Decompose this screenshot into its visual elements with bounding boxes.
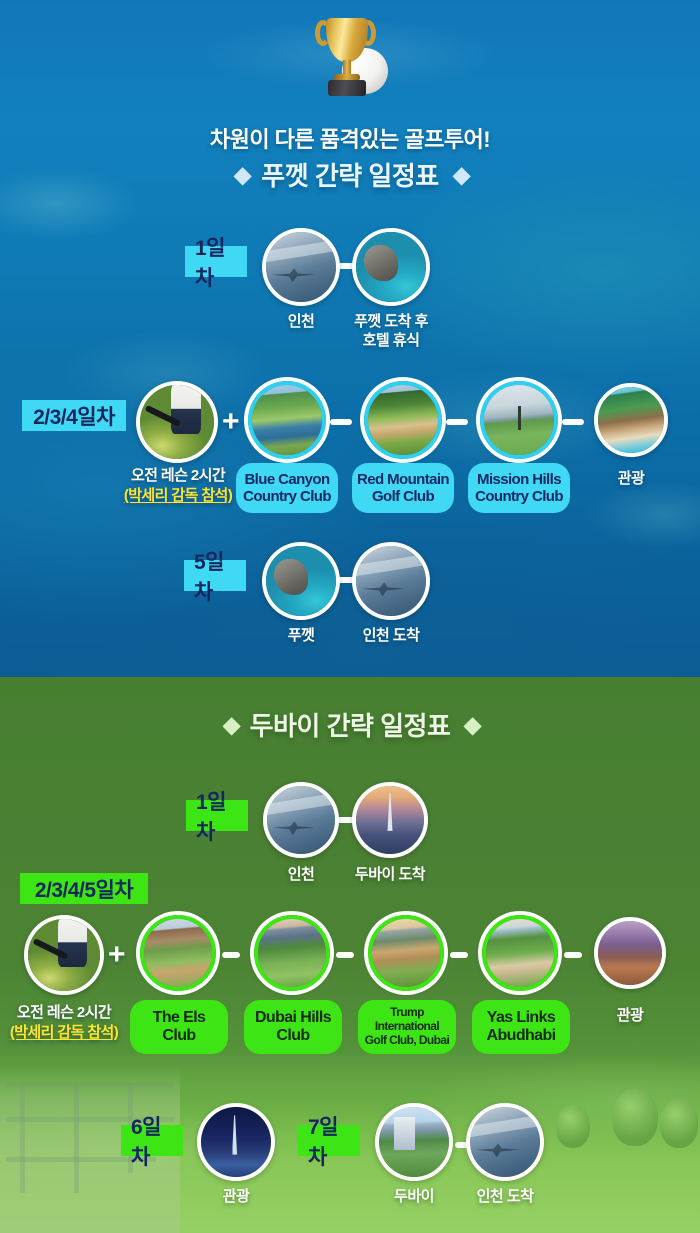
dubai-hills-course-photo	[258, 919, 326, 987]
phuket-club-node-0[interactable]	[248, 381, 326, 459]
phuket-day5-label-incheon: 인천 도착	[341, 627, 441, 646]
incheon-airport-photo-4	[470, 1107, 540, 1177]
dubai-lesson-line1: 오전 레슨 2시간	[17, 1004, 111, 1021]
tree-decor-2	[660, 1098, 698, 1148]
tagline: 차원이 다른 품격있는 골프투어!	[0, 122, 700, 154]
dubai-plus-icon: +	[108, 940, 126, 970]
dubai-club-1-line2: Club	[276, 1027, 309, 1044]
dubai-club-2-line2: International	[375, 1019, 439, 1033]
phuket-plus-icon: +	[222, 407, 240, 437]
dubai-club-pill-2[interactable]: TrumpInternationalGolf Club, Dubai	[358, 1000, 456, 1054]
phuket-day5-label-phuket: 푸껫	[251, 627, 351, 646]
dubai-city-photo	[598, 921, 662, 985]
dubai-club-node-1[interactable]	[254, 915, 330, 991]
phuket-club-1-line2: Golf Club	[372, 488, 434, 505]
dubai-title-text: 두바이 간략 일정표	[250, 711, 451, 741]
connector-p2-b	[446, 419, 468, 425]
phuket-island-photo	[356, 232, 426, 302]
tree-decor-3	[556, 1104, 590, 1148]
dubai-day6-node[interactable]	[197, 1103, 275, 1181]
incheon-airport-photo-3	[267, 786, 335, 854]
phuket-day1-arrival-line1: 푸껫 도착 후	[354, 313, 428, 330]
dubai-day6-label: 관광	[186, 1188, 286, 1207]
phuket-lesson-line2: (박세리 감독 참석)	[108, 486, 248, 506]
dubai-day7-badge: 7일차	[298, 1125, 360, 1156]
phuket-day1-label-arrival: 푸껫 도착 후 호텔 휴식	[336, 313, 446, 351]
dubai-club-0-line2: Club	[162, 1027, 195, 1044]
dubai-day1-node-dubai[interactable]	[352, 782, 428, 858]
dubai-day6-badge: 6일차	[121, 1125, 183, 1156]
yas-links-course-photo	[486, 919, 554, 987]
dubai-lesson-line2: (박세리 감독 참석)	[0, 1023, 128, 1043]
dubai-section-title: 두바이 간략 일정표	[0, 706, 700, 743]
connector-p2-c	[562, 419, 584, 425]
phuket-lesson-node[interactable]	[136, 381, 218, 463]
mission-hills-course-photo	[484, 385, 554, 455]
the-els-club-course-photo	[144, 919, 212, 987]
dubai-club-0-line1: The Els	[153, 1009, 206, 1026]
dubai-day7-node-dubai[interactable]	[375, 1103, 453, 1181]
phuket-day5-badge: 5일차	[184, 560, 246, 591]
phuket-club-node-2[interactable]	[480, 381, 558, 459]
dubai-towers-photo	[379, 1107, 449, 1177]
dubai-sightseeing-label: 관광	[580, 1007, 680, 1026]
connector-d2-d	[564, 952, 582, 958]
dubai-club-node-2[interactable]	[368, 915, 444, 991]
dubai-club-pill-3[interactable]: Yas LinksAbudhabi	[472, 1000, 570, 1054]
dubai-club-pill-0[interactable]: The ElsClub	[130, 1000, 228, 1054]
phuket-day234-badge: 2/3/4일차	[22, 400, 126, 431]
phuket-day1-node-phuket[interactable]	[352, 228, 430, 306]
phuket-club-1-line1: Red Mountain	[357, 471, 449, 488]
dubai-day7-label-incheon: 인천 도착	[455, 1188, 555, 1207]
trump-international-course-photo	[372, 919, 440, 987]
dubai-lesson-node[interactable]	[24, 915, 104, 995]
dubai-day7-label-dubai: 두바이	[364, 1188, 464, 1207]
dubai-day1-label-arrival: 두바이 도착	[338, 866, 442, 885]
phuket-section-title: 푸껫 간략 일정표	[0, 156, 700, 193]
phuket-sightseeing-label: 관광	[581, 470, 681, 489]
phuket-club-pill-0[interactable]: Blue CanyonCountry Club	[236, 463, 338, 513]
dubai-lesson-label: 오전 레슨 2시간 (박세리 감독 참석)	[0, 1003, 128, 1042]
dubai-club-node-0[interactable]	[140, 915, 216, 991]
incheon-airport-photo	[266, 232, 336, 302]
dubai-club-3-line2: Abudhabi	[487, 1027, 556, 1044]
red-mountain-course-photo	[368, 385, 438, 455]
phuket-section: 차원이 다른 품격있는 골프투어! 푸껫 간략 일정표 1일차 인천 푸껫 도착…	[0, 0, 700, 677]
dubai-day2345-badge: 2/3/4/5일차	[20, 873, 148, 904]
phuket-day5-node-incheon[interactable]	[352, 542, 430, 620]
trophy-golfball-icon	[312, 14, 388, 100]
incheon-airport-photo-2	[356, 546, 426, 616]
dubai-club-pill-1[interactable]: Dubai HillsClub	[244, 1000, 342, 1054]
phuket-club-pill-1[interactable]: Red MountainGolf Club	[352, 463, 454, 513]
dubai-sightseeing-node[interactable]	[594, 917, 666, 989]
diamond-left-icon	[234, 167, 252, 185]
connector-d2-a	[222, 952, 240, 958]
phuket-day1-node-incheon[interactable]	[262, 228, 340, 306]
golf-lesson-photo	[140, 385, 214, 459]
phuket-club-0-line2: Country Club	[243, 488, 331, 505]
phuket-club-2-line2: Country Club	[475, 488, 563, 505]
phuket-island-photo-2	[266, 546, 336, 616]
golf-lesson-photo-2	[28, 919, 100, 991]
blue-canyon-course-photo	[252, 385, 322, 455]
dubai-day1-node-incheon[interactable]	[263, 782, 339, 858]
diamond-left-icon-dubai	[222, 717, 240, 735]
phuket-lesson-line1: 오전 레슨 2시간	[131, 467, 225, 484]
phuket-resort-photo	[598, 387, 664, 453]
dubai-club-3-line1: Yas Links	[487, 1009, 555, 1026]
phuket-club-0-line1: Blue Canyon	[244, 471, 329, 488]
dubai-day1-badge: 1일차	[186, 800, 248, 831]
connector-d2-b	[336, 952, 354, 958]
dubai-club-2-line3: Golf Club, Dubai	[365, 1033, 449, 1047]
phuket-title-text: 푸껫 간략 일정표	[261, 161, 438, 191]
connector-d2-c	[450, 952, 468, 958]
diamond-right-icon-dubai	[464, 717, 482, 735]
phuket-club-pill-2[interactable]: Mission HillsCountry Club	[468, 463, 570, 513]
diamond-right-icon	[452, 167, 470, 185]
phuket-club-node-1[interactable]	[364, 381, 442, 459]
phuket-club-2-line1: Mission Hills	[477, 471, 561, 488]
infographic-page: 차원이 다른 품격있는 골프투어! 푸껫 간략 일정표 1일차 인천 푸껫 도착…	[0, 0, 700, 1233]
dubai-club-2-line1: Trump	[390, 1005, 424, 1019]
phuket-lesson-label: 오전 레슨 2시간 (박세리 감독 참석)	[108, 466, 248, 505]
phuket-sightseeing-node[interactable]	[594, 383, 668, 457]
dubai-day1-label-incheon: 인천	[251, 866, 351, 885]
trophy-base-lower	[328, 80, 366, 96]
dubai-skyline-photo	[356, 786, 424, 854]
connector-p2-a	[330, 419, 352, 425]
dubai-night-skyline-photo	[201, 1107, 271, 1177]
dubai-club-1-line1: Dubai Hills	[255, 1009, 331, 1026]
dubai-day7-node-incheon[interactable]	[466, 1103, 544, 1181]
phuket-day5-node-phuket[interactable]	[262, 542, 340, 620]
phuket-day1-arrival-line2: 호텔 휴식	[363, 332, 420, 349]
phuket-day1-badge: 1일차	[185, 246, 247, 277]
tree-decor-1	[612, 1088, 658, 1146]
dubai-club-node-3[interactable]	[482, 915, 558, 991]
